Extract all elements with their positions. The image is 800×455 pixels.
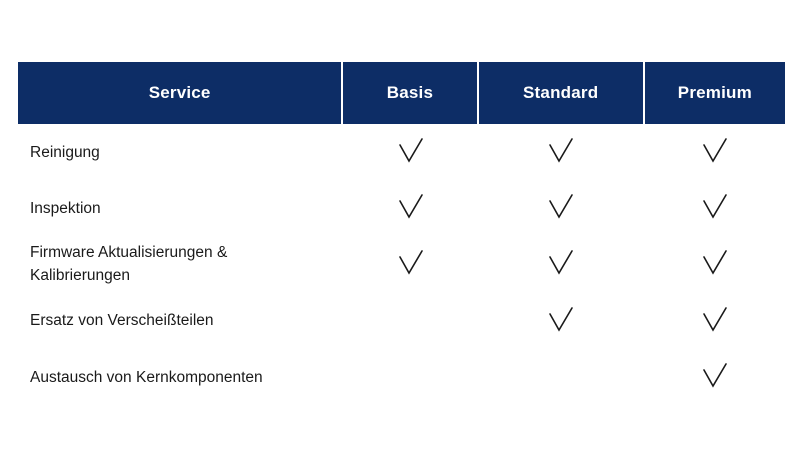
row-label-cell: Reinigung (18, 141, 343, 164)
row-label-line1: Firmware Aktualisierungen & (30, 244, 227, 261)
checkmark-icon (395, 137, 425, 167)
row-label-line1: Reinigung (30, 144, 100, 161)
table-header-row: Service Basis Standard Premium (18, 62, 785, 124)
column-header-service[interactable]: Service (18, 62, 341, 124)
cell-basis (343, 193, 476, 223)
cell-premium (643, 362, 785, 392)
row-label-line1: Austausch von Kernkomponenten (30, 369, 263, 386)
checkmark-icon (699, 362, 729, 392)
cell-basis (343, 362, 476, 392)
table-row: Ersatz von Verscheißteilen (18, 292, 785, 349)
cell-basis (343, 306, 476, 336)
table-row: Firmware Aktualisierungen & Kalibrierung… (18, 236, 785, 292)
checkmark-icon (699, 137, 729, 167)
cell-premium (643, 306, 785, 336)
cell-standard (477, 193, 643, 223)
column-header-standard[interactable]: Standard (479, 62, 643, 124)
table-row: Inspektion (18, 180, 785, 236)
checkmark-icon (395, 193, 425, 223)
checkmark-icon (395, 249, 425, 279)
cell-standard (477, 249, 643, 279)
checkmark-icon (545, 193, 575, 223)
cell-premium (643, 137, 785, 167)
row-label-line2: Kalibrierungen (30, 264, 343, 287)
cell-basis (343, 249, 476, 279)
checkmark-icon (699, 249, 729, 279)
cell-basis (343, 137, 476, 167)
row-label-cell: Firmware Aktualisierungen & Kalibrierung… (18, 241, 343, 287)
cell-standard (477, 362, 643, 392)
table-row: Austausch von Kernkomponenten (18, 349, 785, 405)
column-header-basis[interactable]: Basis (343, 62, 476, 124)
service-comparison-table: Service Basis Standard Premium Reinigung (18, 62, 785, 405)
cell-premium (643, 193, 785, 223)
table-row: Reinigung (18, 124, 785, 180)
checkmark-icon (699, 193, 729, 223)
cell-standard (477, 137, 643, 167)
checkmark-icon (545, 137, 575, 167)
row-label-cell: Inspektion (18, 197, 343, 220)
row-label-cell: Ersatz von Verscheißteilen (18, 309, 343, 332)
row-label-cell: Austausch von Kernkomponenten (18, 366, 343, 389)
column-header-premium[interactable]: Premium (645, 62, 785, 124)
checkmark-icon (699, 306, 729, 336)
row-label-line1: Inspektion (30, 200, 101, 217)
cell-premium (643, 249, 785, 279)
checkmark-icon (545, 249, 575, 279)
checkmark-icon (545, 306, 575, 336)
row-label-line1: Ersatz von Verscheißteilen (30, 312, 214, 329)
cell-standard (477, 306, 643, 336)
